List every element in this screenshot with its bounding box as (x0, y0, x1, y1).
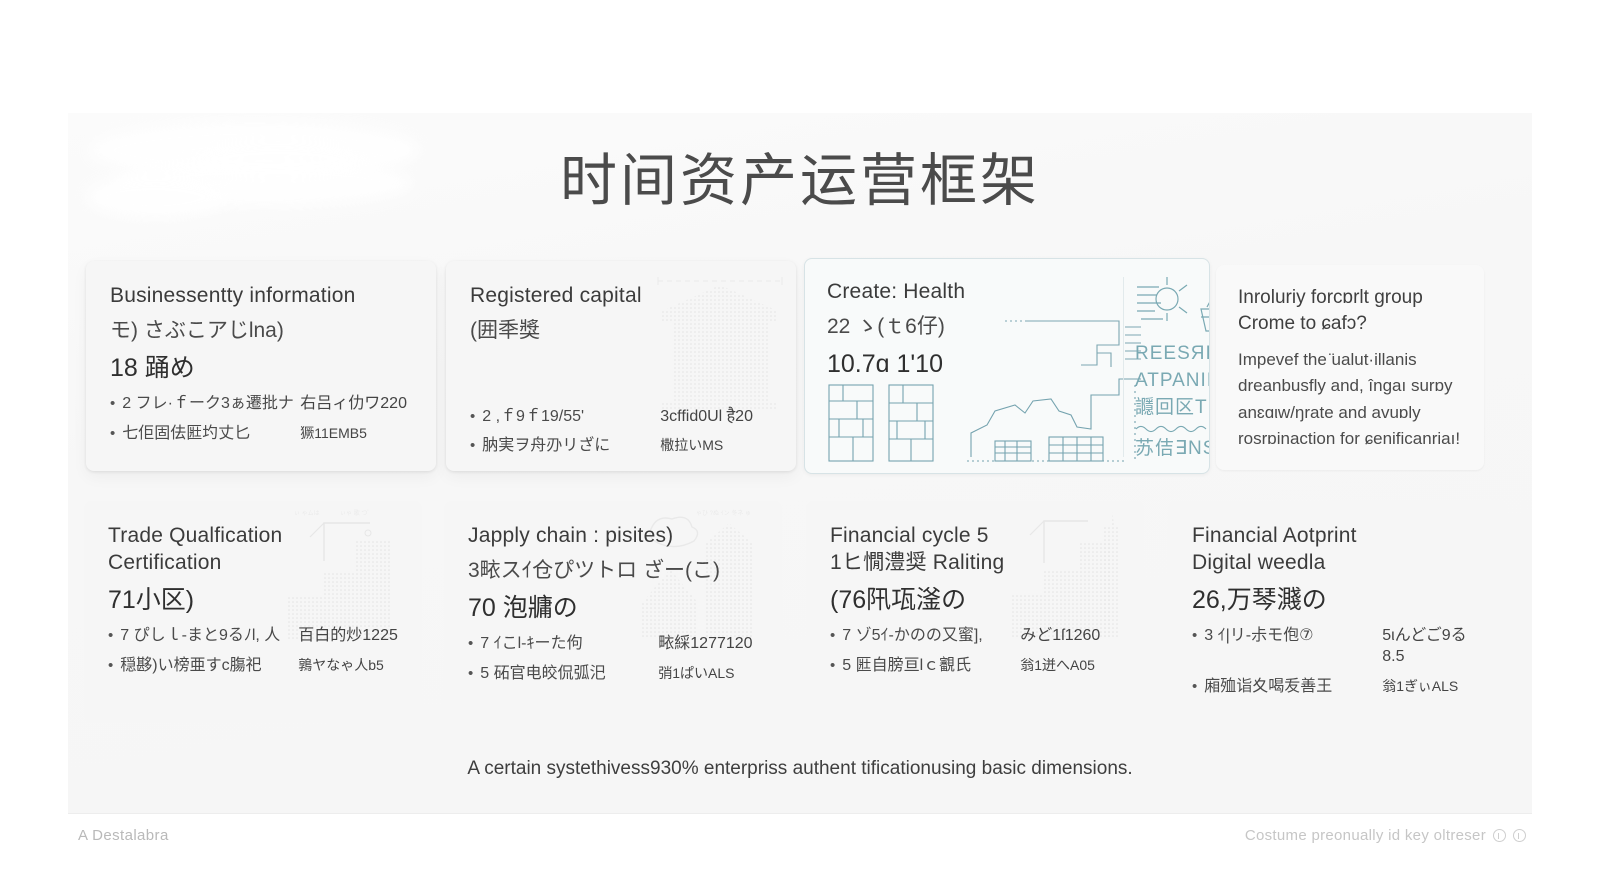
bullet-label: 七佢固佉匨圴丈匕 (122, 424, 300, 445)
bullet-dot-icon: • (830, 656, 835, 676)
info-icon (1513, 829, 1526, 842)
bullet-dot-icon: • (830, 626, 835, 646)
card-title: Create: Health (827, 279, 1187, 306)
list-item: • 2 ,ｆ9ｆ19/55' 3cffid0Ul है20 (470, 407, 772, 428)
card-metric: 18 踊め (110, 353, 412, 384)
bullet-dot-icon: • (110, 424, 115, 444)
card-title: Trade Qualfication (108, 523, 398, 550)
list-item: • 2 フレ·ｆーク3ぁ遷批ナ 右吕ィ仂ワ220 (110, 394, 412, 415)
bullet-value: 翁1ぎぃALS (1382, 677, 1458, 695)
card-bullet-list: • 2 ,ｆ9ｆ19/55' 3cffid0Ul है20 • 肭実ヲ舟刅リざに… (470, 407, 772, 458)
bullet-dot-icon: • (468, 634, 473, 654)
bullet-dot-icon: • (470, 436, 475, 456)
bullet-dot-icon: • (470, 407, 475, 427)
bullet-label: 肭実ヲ舟刅リざに (482, 436, 660, 457)
card-title: Japply chain : pisites) (468, 523, 758, 550)
bullet-value: 獗11EMB5 (300, 424, 367, 442)
list-item: • 7 ぴしｌ-まと9るﾉl, 人 百白的炒1225 (108, 626, 398, 647)
bullet-value: 畩綵1277120 (658, 634, 752, 655)
footer-credit-group: Costume preonually id key oltreser (1245, 827, 1526, 844)
list-item: • 3 ｲ|リ-尗モ佨⑦ 5ιんどご9る8.5 (1192, 626, 1482, 668)
card-subtitle: モ) さぶこアじlna) (110, 317, 412, 345)
card-create-health[interactable]: REESЯIIK ATPANIIT 讔回区T 苏佶∃NS Create: Hea… (804, 258, 1210, 474)
bullet-value: 翁1迸へA05 (1020, 656, 1095, 674)
card-title: Registered capital (470, 283, 772, 310)
page-title: 时间资产运营框架 (68, 135, 1532, 217)
credit-label: Costume preonually id key oltreser (1245, 827, 1486, 844)
panel-line-4: 苏佶∃NS (1135, 436, 1210, 463)
bullet-value: 弰1ぱいALS (658, 664, 734, 682)
panel-heading: Inroluriy forcɒrlt group Crome to ɕafɔ? (1238, 285, 1462, 337)
card-registered-capital[interactable]: Registered capital (囲秊獎 • 2 ,ｆ9ｆ19/55' 3… (446, 261, 796, 471)
card-bullet-list: • 7 ｲこl-ｷーた佝 畩綵1277120 • 5 砳官电皎侃弧汜 弰1ぱいA… (468, 634, 758, 685)
bullet-dot-icon: • (1192, 626, 1197, 646)
card-bullet-list: • 7 ゾ5ｲ-かのの又蜜], みど1ſ1260 • 5 匨自膀亘lｃ覾氏 翁1… (830, 626, 1120, 677)
card-title: Businessentty information (110, 283, 412, 310)
bullet-label: 5 砳官电皎侃弧汜 (480, 664, 658, 685)
card-business-entity-information[interactable]: Businessentty information モ) さぶこアじlna) 1… (86, 261, 436, 471)
bullet-label: 7 ぴしｌ-まと9るﾉl, 人 (120, 626, 298, 647)
bullet-dot-icon: • (108, 626, 113, 646)
list-item: • 七佢固佉匨圴丈匕 獗11EMB5 (110, 424, 412, 445)
bullet-value: 百白的炒1225 (298, 626, 398, 647)
panel-body: Impevef the ̈ualut·illanis dreanbusfly a… (1238, 347, 1462, 452)
card-financial-footprint-digital[interactable]: Financial Aotprint Digital weedla 26,万琴濺… (1168, 501, 1506, 723)
card-involuntary-forecast-group[interactable]: Inroluriy forcɒrlt group Crome to ɕafɔ? … (1216, 265, 1484, 470)
card-title-line2: 1ヒ憪澧奨 Raliting (830, 550, 1120, 577)
card-financial-cycle-railting[interactable]: Financial cycle 5 1ヒ憪澧奨 Raliting (76阠瓨滏の… (806, 501, 1144, 723)
bullet-value: 右吕ィ仂ワ220 (300, 394, 407, 415)
card-title: Financial Aotprint (1192, 523, 1482, 550)
bullet-value: 橵拉いMS (660, 436, 723, 454)
card-subtitle: 22 ゝ(ｔ6仔) (827, 313, 1187, 341)
card-supply-chain-sites[interactable]: ゃひ ?ぬ ｲン 冬ネ ゅ Japply chain : pisites) 3畩… (444, 501, 782, 723)
slide-caption: A certain systethivess930% enterpriss au… (68, 758, 1532, 780)
bullet-value: みど1ſ1260 (1020, 626, 1100, 647)
card-bullet-list: • 7 ぴしｌ-まと9るﾉl, 人 百白的炒1225 • 穏夦)い榜亜すc膓祀 … (108, 626, 398, 677)
bullet-label: 2 ,ｆ9ｆ19/55' (482, 407, 660, 428)
card-metric: 71小区) (108, 585, 398, 616)
list-item: • 7 ｲこl-ｷーた佝 畩綵1277120 (468, 634, 758, 655)
card-bullet-list: • 2 フレ·ｆーク3ぁ遷批ナ 右吕ィ仂ワ220 • 七佢固佉匨圴丈匕 獗11E… (110, 394, 412, 445)
card-bullet-list: • 3 ｲ|リ-尗モ佨⑦ 5ιんどご9る8.5 • 廂殈诣夊喝叐善王 翁1ぎぃA… (1192, 626, 1482, 697)
bullet-dot-icon: • (1192, 677, 1197, 697)
bullet-label: 2 フレ·ｆーク3ぁ遷批ナ (122, 394, 300, 415)
bullet-value: 5ιんどご9る8.5 (1382, 626, 1482, 668)
wave-divider-icon (1135, 423, 1210, 435)
list-item: • 肭実ヲ舟刅リざに 橵拉いMS (470, 436, 772, 457)
bullet-label: 穏夦)い榜亜すc膓祀 (120, 656, 298, 677)
bullet-label: 5 匨自膀亘lｃ覾氏 (842, 656, 1020, 677)
brand-label: A Destalabra (78, 827, 169, 844)
bullet-label: 7 ｲこl-ｷーた佝 (480, 634, 658, 655)
card-metric: 70 泡牅の (468, 593, 758, 624)
list-item: • 5 砳官电皎侃弧汜 弰1ぱいALS (468, 664, 758, 685)
bullet-dot-icon: • (108, 656, 113, 676)
slide-canvas: 时间资产运营框架 Businessentty information モ) さぶ… (68, 113, 1532, 813)
copyright-icon (1493, 829, 1506, 842)
bullet-value: 3cffid0Ul है20 (660, 407, 753, 428)
card-title-line2: Certification (108, 550, 398, 577)
bullet-dot-icon: • (110, 394, 115, 414)
card-metric: 10.7ɑ 1'10 (827, 349, 1187, 380)
card-metric: (76阠瓨滏の (830, 585, 1120, 616)
card-subtitle: (囲秊獎 (470, 317, 772, 345)
footer-bar: A Destalabra Costume preonually id key o… (68, 813, 1532, 873)
card-subtitle: 3畩スｲ仓ぴツトロ ざー(こ) (468, 557, 758, 585)
card-trade-qualification-certification[interactable]: ぃ ゃムは ぃゃ 歌 つ ゙ Trade Qualfication Certif… (84, 501, 422, 723)
card-title-line2: Digital weedla (1192, 550, 1482, 577)
bullet-dot-icon: • (468, 664, 473, 684)
list-item: • 廂殈诣夊喝叐善王 翁1ぎぃALS (1192, 677, 1482, 698)
list-item: • 穏夦)い榜亜すc膓祀 鶉ヤなゃ人b5 (108, 656, 398, 677)
card-metric: 26,万琴濺の (1192, 585, 1482, 616)
bullet-label: 3 ｲ|リ-尗モ佨⑦ (1204, 626, 1382, 647)
card-title: Financial cycle 5 (830, 523, 1120, 550)
footer-divider (68, 813, 1532, 814)
list-item: • 7 ゾ5ｲ-かのの又蜜], みど1ſ1260 (830, 626, 1120, 647)
bullet-label: 7 ゾ5ｲ-かのの又蜜], (842, 626, 1020, 647)
list-item: • 5 匨自膀亘lｃ覾氏 翁1迸へA05 (830, 656, 1120, 677)
bullet-value: 鶉ヤなゃ人b5 (298, 656, 384, 674)
bullet-label: 廂殈诣夊喝叐善王 (1204, 677, 1382, 698)
